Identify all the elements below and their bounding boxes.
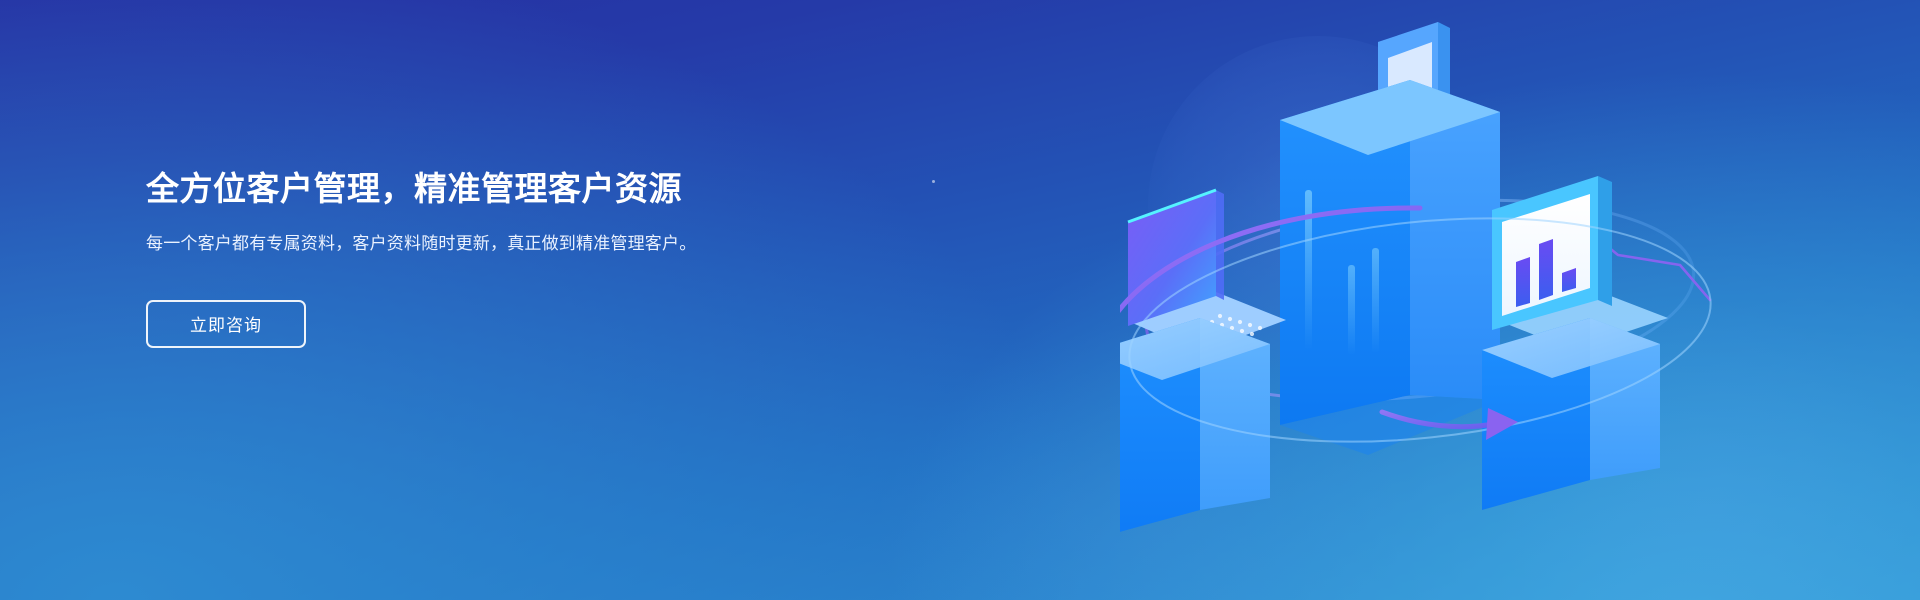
pillar-right [1482, 176, 1668, 510]
consult-now-button[interactable]: 立即咨询 [146, 300, 306, 348]
hero-banner: 全方位客户管理，精准管理客户资源 每一个客户都有专属资料，客户资料随时更新，真正… [0, 0, 1920, 600]
hero-illustration [1120, 0, 1920, 600]
hero-copy: 全方位客户管理，精准管理客户资源 每一个客户都有专属资料，客户资料随时更新，真正… [146, 168, 786, 348]
page-title: 全方位客户管理，精准管理客户资源 [146, 168, 786, 209]
pillar-left [1120, 190, 1286, 540]
hero-subtitle: 每一个客户都有专属资料，客户资料随时更新，真正做到精准管理客户。 [146, 231, 736, 257]
sparkle-dot [932, 180, 935, 183]
